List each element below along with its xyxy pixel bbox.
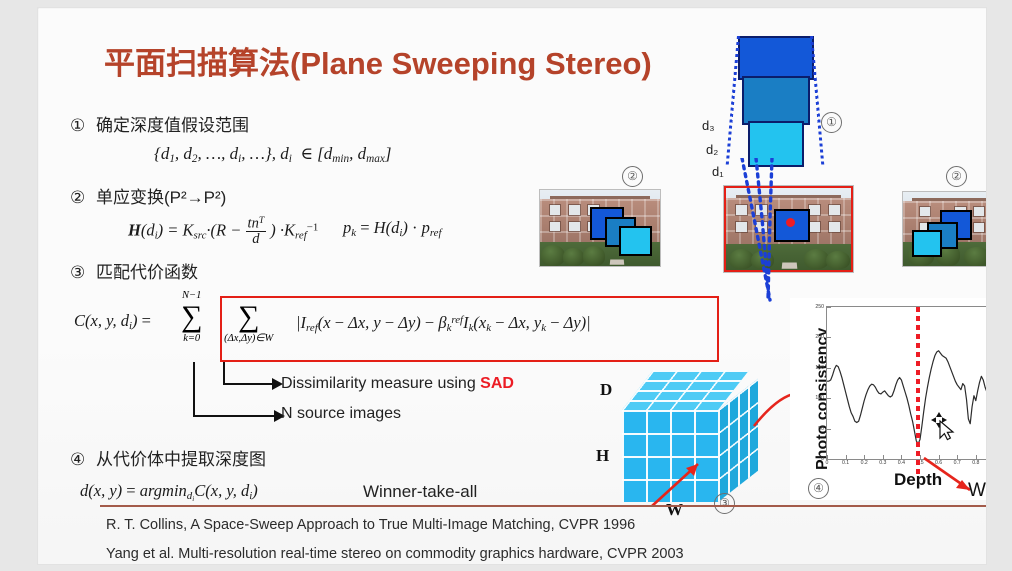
step-4-label: 从代价体中提取深度图 <box>96 450 266 469</box>
depth-label-d2: d₂ <box>706 142 718 157</box>
bush <box>563 248 585 266</box>
x-tick-label: 0 <box>826 460 829 466</box>
y-tick-label: 100 <box>811 395 824 401</box>
x-tick <box>846 455 847 459</box>
cube-label-depth: D <box>600 380 612 400</box>
y-tick-label: 150 <box>811 365 824 371</box>
window <box>974 207 985 216</box>
window <box>550 222 561 231</box>
x-tick <box>920 455 921 459</box>
step-2-marker: ② <box>70 188 85 207</box>
bush <box>583 246 605 265</box>
winner-annotation: Winner <box>968 480 986 502</box>
formula-depth-set: {d1, d2, …, di, …}, di ∈ [dmin, dmax] <box>154 144 391 165</box>
cost-volume-cube <box>594 370 764 510</box>
step-2-label: 单应变换(P²→P²) <box>96 188 226 207</box>
winner-depth-line <box>916 307 920 477</box>
step-1-label: 确定深度值假设范围 <box>96 116 249 135</box>
marker-2-right: ② <box>946 166 967 187</box>
y-tick-label: 200 <box>811 334 824 340</box>
y-tick <box>827 307 831 308</box>
frustum-edge-left <box>726 36 740 166</box>
window <box>569 222 580 231</box>
y-tick <box>827 429 831 430</box>
step-2: ② 单应变换(P²→P²) <box>70 183 226 208</box>
sigma-outer: N−1∑k=0 <box>181 304 202 331</box>
reference-1: R. T. Collins, A Space-Sweep Approach to… <box>106 517 635 533</box>
y-tick-label: 250 <box>811 304 824 310</box>
annotation-dissimilarity: Dissimilarity measure using SAD <box>281 375 514 393</box>
frustum-edge-right <box>810 36 824 166</box>
source-photo-right <box>903 192 986 266</box>
cube-label-height: H <box>596 446 609 466</box>
footer-divider <box>100 505 986 507</box>
window <box>569 205 580 214</box>
source-photo-left <box>540 190 660 266</box>
mouse-cursor-icon <box>931 411 959 441</box>
formula-cost-body: |Iref(x − Δx, y − Δy) − βkrefIk(xk − Δx,… <box>296 313 591 334</box>
x-tick-label: 0.4 <box>898 460 905 466</box>
sad-label: SAD <box>480 375 514 392</box>
depth-label-d3: d₃ <box>702 118 715 133</box>
cube-label-width: W <box>666 500 683 520</box>
bush <box>541 245 565 266</box>
slide-page: 平面扫描算法(Plane Sweeping Stereo) ① 确定深度值假设范… <box>38 8 986 564</box>
window <box>974 223 985 232</box>
sigma-inner: ∑(Δx,Δy)∈W <box>238 304 259 331</box>
walkway <box>609 259 624 265</box>
formula-argmin: d(x, y) = argmindiC(x, y, di) <box>80 481 258 503</box>
page-title: 平面扫描算法(Plane Sweeping Stereo) <box>104 38 652 83</box>
reference-2: Yang et al. Multi-resolution real-time s… <box>106 546 684 562</box>
step-4-marker: ④ <box>70 450 85 469</box>
marker-1-frustum: ① <box>821 112 842 133</box>
chart-series-line <box>827 307 986 459</box>
depth-plane-3 <box>738 36 814 80</box>
marker-2-left: ② <box>622 166 643 187</box>
warped-patch-d1 <box>912 230 942 256</box>
slide-canvas: 平面扫描算法(Plane Sweeping Stereo) ① 确定深度值假设范… <box>0 0 1012 571</box>
step-1: ① 确定深度值假设范围 <box>70 111 249 136</box>
photo-consistency-chart: Photo consistency 00.10.20.30.40.50.60.7… <box>790 298 986 500</box>
winner-take-all-label: Winner-take-all <box>363 482 477 502</box>
depth-plane-2 <box>742 76 810 125</box>
formula-homography: H(di) = Ksrc·(R − tnTd ) ·Kref−1 <box>128 216 318 247</box>
bush <box>964 247 986 266</box>
step-1-marker: ① <box>70 116 85 135</box>
y-tick <box>827 368 831 369</box>
chart-plot-area: 00.10.20.30.40.50.60.70.80.91 0501001502… <box>826 306 986 460</box>
y-tick <box>827 337 831 338</box>
step-3-marker: ③ <box>70 263 85 282</box>
step-3-label: 匹配代价函数 <box>96 263 198 282</box>
y-tick <box>827 459 831 460</box>
x-tick-label: 0.2 <box>861 460 868 466</box>
y-tick <box>827 398 831 399</box>
window <box>920 207 931 216</box>
x-tick-label: 0.3 <box>879 460 886 466</box>
marker-4-chart: ④ <box>808 478 829 499</box>
y-tick-label: 50 <box>811 426 824 432</box>
x-tick <box>883 455 884 459</box>
formula-point-map: pk = H(di) · pref <box>343 218 442 239</box>
warped-patch-d1 <box>619 226 652 256</box>
step-4: ④ 从代价体中提取深度图 <box>70 445 266 470</box>
step-3: ③ 匹配代价函数 <box>70 258 198 283</box>
y-tick-label: 0 <box>811 456 824 462</box>
annotation-n-source-images: N source images <box>281 405 401 423</box>
depth-plane-frustum <box>728 36 848 176</box>
window <box>550 205 561 214</box>
x-tick <box>864 455 865 459</box>
formula-cost-lhs: C(x, y, di) = <box>74 311 151 332</box>
projection-rays <box>710 158 860 303</box>
x-tick <box>901 455 902 459</box>
marker-3-cube: ③ <box>714 493 735 514</box>
x-tick-label: 0.1 <box>842 460 849 466</box>
dissimilarity-text: Dissimilarity measure using <box>281 375 480 392</box>
